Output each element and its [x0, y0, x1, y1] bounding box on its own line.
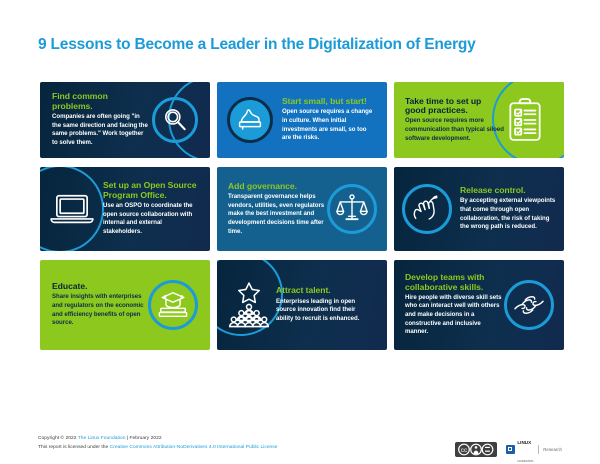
- lesson-card-5: Add governance. Transparent governance h…: [217, 167, 387, 251]
- linux-foundation-mark-icon: [506, 445, 515, 454]
- collaborating-hands-icon: [513, 290, 545, 320]
- lesson-body: Open source requires a change in culture…: [282, 108, 377, 143]
- lesson-card-8: Attract talent. Enterprises leading in o…: [217, 260, 387, 350]
- lesson-body: Enterprises leading in open source innov…: [276, 298, 370, 324]
- lesson-body: Share insights with enterprises and regu…: [52, 293, 144, 328]
- lesson-card-1: Find common problems. Companies are ofte…: [40, 82, 210, 158]
- infographic-page: 9 Lessons to Become a Leader in the Digi…: [0, 0, 600, 464]
- lesson-heading: Add governance.: [228, 182, 325, 192]
- step-shoe-icon: [236, 107, 264, 133]
- footer: Copyright © 2022 The Linux Foundation | …: [38, 434, 562, 452]
- magnifier-icon: [161, 106, 189, 134]
- lesson-heading: Find common problems.: [52, 92, 148, 111]
- lesson-body: Use an OSPO to coordinate the open sourc…: [103, 202, 201, 237]
- lf-logo-sub: FOUNDATION: [517, 460, 533, 463]
- clipboard-checklist-icon: [507, 98, 543, 142]
- lesson-card-2: Start small, but start! Open source requ…: [217, 82, 387, 158]
- lessons-grid: Find common problems. Companies are ofte…: [40, 82, 564, 350]
- lesson-body: By accepting external viewpoints that co…: [460, 197, 558, 232]
- lesson-heading: Take time to set up good practices.: [405, 97, 504, 116]
- lesson-card-9: Develop teams with collaborative skills.…: [394, 260, 564, 350]
- lesson-body: Hire people with diverse skill sets who …: [405, 294, 502, 337]
- linux-foundation-research-logo: LINUX FOUNDATION Research: [506, 431, 562, 464]
- lesson-card-4: Set up an Open Source Program Office. Us…: [40, 167, 210, 251]
- license-link[interactable]: Creative Commons Attribution-NoDerivativ…: [110, 445, 278, 450]
- lesson-card-7: Educate. Share insights with enterprises…: [40, 260, 210, 350]
- lesson-heading: Educate.: [52, 282, 144, 292]
- lesson-heading: Set up an Open Source Program Office.: [103, 181, 201, 200]
- lesson-body: Open source requires more communication …: [405, 117, 504, 143]
- lesson-heading: Release control.: [460, 186, 558, 196]
- page-title: 9 Lessons to Become a Leader in the Digi…: [38, 36, 476, 54]
- lesson-body: Companies are often going "in the same d…: [52, 113, 148, 148]
- footer-logos: cc LINUX FOUNDATION Research: [455, 431, 562, 464]
- copyright-prefix: Copyright © 2022: [38, 436, 78, 441]
- lesson-card-6: Release control. By accepting external v…: [394, 167, 564, 251]
- license-prefix: This report is licensed under the: [38, 445, 110, 450]
- lesson-heading: Attract talent.: [276, 286, 370, 296]
- graduation-books-icon: [156, 289, 190, 321]
- lesson-card-3: Take time to set up good practices. Open…: [394, 82, 564, 158]
- lesson-heading: Develop teams with collaborative skills.: [405, 273, 502, 292]
- lesson-body: Transparent governance helps vendors, ut…: [228, 193, 325, 236]
- releasing-hand-icon: [411, 194, 443, 224]
- scales-balance-icon: [336, 193, 368, 225]
- star-people-group-icon: [228, 281, 270, 329]
- svg-text:cc: cc: [461, 447, 468, 454]
- linux-foundation-link[interactable]: The Linux Foundation: [78, 436, 126, 441]
- creative-commons-badge-icon: cc: [455, 442, 497, 457]
- laptop-icon: [49, 191, 95, 227]
- lf-logo-suffix: Research: [543, 447, 562, 452]
- lf-logo-name: LINUX: [517, 440, 531, 445]
- copyright-suffix: | February 2022: [125, 436, 161, 441]
- lesson-heading: Start small, but start!: [282, 97, 377, 107]
- logo-divider: [538, 445, 539, 454]
